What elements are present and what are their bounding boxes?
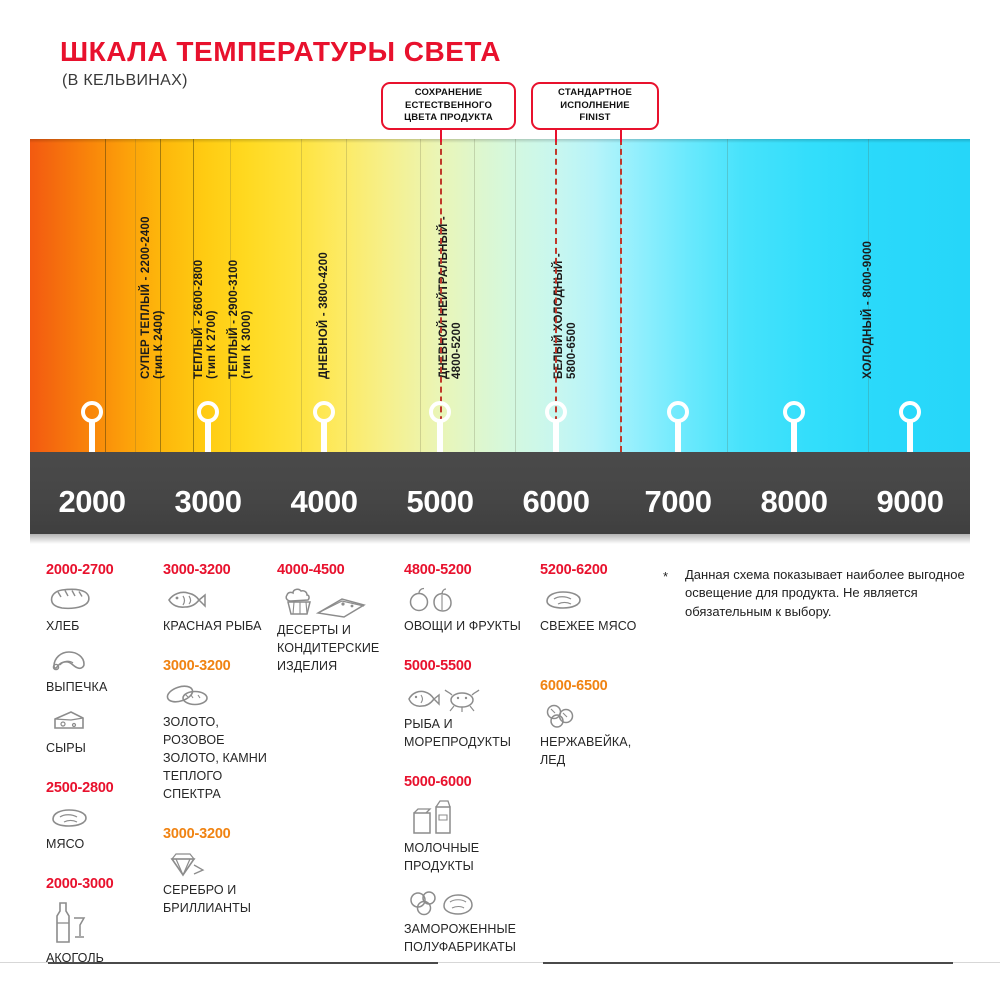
rings-icon [163,681,278,711]
product-name: НЕРЖАВЕЙКА, ЛЕД [540,735,631,767]
marker-ring-icon [81,401,103,423]
scale-tick-7000: 7000 [645,484,712,520]
spectrum-top-shadow [30,139,970,143]
marker-ring-icon [313,401,335,423]
product-column-2: 3000-3200 КРАСНАЯ РЫБА 3000-3200 ЗОЛОТО,… [163,562,278,928]
product-name: ДЕСЕРТЫ И КОНДИТЕРСКИЕ ИЗДЕЛИЯ [277,623,379,673]
diamond-icon [163,849,278,879]
bottom-divider-left [48,962,438,964]
product-item: СЫРЫ [46,707,151,757]
fish-crab-icon [404,681,532,713]
product-item: СВЕЖЕЕ МЯСО [540,585,650,635]
marker-ring-icon [667,401,689,423]
divider-line [135,139,136,452]
dashed-marker-line [620,139,622,452]
spectrum-gradient [30,139,970,452]
product-name: КРАСНАЯ РЫБА [163,619,262,633]
bottle-glass-icon [46,899,151,947]
marker-ring-icon [545,401,567,423]
range-label: 5000-6000 [404,774,532,790]
product-item: ВЫПЕЧКА [46,646,151,696]
product-name: СВЕЖЕЕ МЯСО [540,619,636,633]
frozen-food-icon [404,886,532,918]
scale-tick-4000: 4000 [291,484,358,520]
range-label: 3000-3200 [163,658,278,674]
product-name: СЫРЫ [46,741,86,755]
callout-finist-standard-text: СТАНДАРТНОЕ ИСПОЛНЕНИЕ FINIST [558,87,632,125]
marker-ring-icon [899,401,921,423]
spectrum-label-warm-3000: ТЕПЛЫЙ - 2900-3100 (тип К 3000) [228,260,254,379]
product-name: ХЛЕБ [46,619,79,633]
divider-line [105,139,106,452]
croissant-icon [46,646,151,676]
bread-icon [46,585,151,615]
footnote-star: * [663,568,668,586]
page-subtitle: (В КЕЛЬВИНАХ) [62,72,188,90]
marker-ring-icon [783,401,805,423]
range-label: 2000-2700 [46,562,151,578]
divider-line [515,139,516,452]
scale-bar-shadow [30,534,970,544]
scale-tick-8000: 8000 [761,484,828,520]
product-name: ОВОЩИ И ФРУКТЫ [404,619,521,633]
page-title: ШКАЛА ТЕМПЕРАТУРЫ СВЕТА [60,36,501,68]
divider-line [301,139,302,452]
product-item: ЗАМОРОЖЕННЫЕ ПОЛУФАБРИКАТЫ [404,886,532,956]
product-item: ДЕСЕРТЫ И КОНДИТЕРСКИЕ ИЗДЕЛИЯ [277,585,395,675]
milk-carton-icon [404,797,532,837]
product-item: РЫБА И МОРЕПРОДУКТЫ [404,681,532,751]
marker-ring-icon [197,401,219,423]
product-column-4: 4800-5200 ОВОЩИ И ФРУКТЫ 5000-5500 РЫБА … [404,562,532,967]
product-name: ВЫПЕЧКА [46,680,107,694]
spectrum-label-daylight: ДНЕВНОЙ - 3800-4200 [318,252,331,379]
fresh-meat-icon [540,585,650,615]
divider-line [346,139,347,452]
product-column-3: 4000-4500 ДЕСЕРТЫ И КОНДИТЕРСКИЕ ИЗДЕЛИЯ [277,562,395,686]
product-item: НЕРЖАВЕЙКА, ЛЕД [540,701,650,769]
product-item: СЕРЕБРО И БРИЛЛИАНТЫ [163,849,278,917]
divider-line [727,139,728,452]
product-item: ОВОЩИ И ФРУКТЫ [404,585,532,635]
range-label: 4800-5200 [404,562,532,578]
product-column-5: 5200-6200 СВЕЖЕЕ МЯСО 6000-6500 НЕРЖАВЕЙ… [540,562,650,780]
range-label: 5000-5500 [404,658,532,674]
footnote: * Данная схема показывает наиболее выгод… [663,566,983,621]
product-item: ЗОЛОТО, РОЗОВОЕ ЗОЛОТО, КАМНИ ТЕПЛОГО СП… [163,681,278,803]
kelvin-scale-bar [30,452,970,534]
range-label: 4000-4500 [277,562,395,578]
divider-line [474,139,475,452]
steak-icon [46,803,151,833]
callout-natural-color-text: СОХРАНЕНИЕ ЕСТЕСТВЕННОГО ЦВЕТА ПРОДУКТА [404,87,493,125]
range-label: 6000-6500 [540,678,650,694]
spectrum-label-cold: ХОЛОДНЫЙ - 8000-9000 [862,241,875,379]
callout-finist-stem-right [620,130,622,142]
product-name: МЯСО [46,837,84,851]
product-item: МЯСО [46,803,151,853]
range-label: 2500-2800 [46,780,151,796]
product-item: АКОГОЛЬ [46,899,151,967]
product-item: ХЛЕБ [46,585,151,635]
scale-tick-9000: 9000 [877,484,944,520]
product-name: МОЛОЧНЫЕ ПРОДУКТЫ [404,841,479,873]
product-item: КРАСНАЯ РЫБА [163,585,278,635]
fruit-icon [404,585,532,615]
scale-tick-5000: 5000 [407,484,474,520]
cupcake-cake-icon [277,585,395,619]
fish-icon [163,585,278,615]
product-name: ЗОЛОТО, РОЗОВОЕ ЗОЛОТО, КАМНИ ТЕПЛОГО СП… [163,715,267,801]
product-column-1: 2000-2700 ХЛЕБ ВЫПЕЧКА СЫРЫ 2500-2800 МЯ… [46,562,151,978]
marker-ring-icon [429,401,451,423]
callout-finist-stem-left [555,130,557,142]
scale-tick-6000: 6000 [523,484,590,520]
divider-line [420,139,421,452]
product-name: ЗАМОРОЖЕННЫЕ ПОЛУФАБРИКАТЫ [404,922,516,954]
footnote-text: Данная схема показывает наиболее выгодно… [685,566,983,621]
callout-natural-color-stem [440,130,442,142]
callout-natural-color: СОХРАНЕНИЕ ЕСТЕСТВЕННОГО ЦВЕТА ПРОДУКТА [381,82,516,130]
scale-tick-3000: 3000 [175,484,242,520]
range-label: 3000-3200 [163,562,278,578]
range-label: 2000-3000 [46,876,151,892]
product-item: МОЛОЧНЫЕ ПРОДУКТЫ [404,797,532,875]
product-name: РЫБА И МОРЕПРОДУКТЫ [404,717,511,749]
cheese-icon [46,707,151,737]
spectrum-label-warm-2700: ТЕПЛЫЙ - 2600-2800 (тип К 2700) [193,260,219,379]
spectrum-label-super-warm: СУПЕР ТЕПЛЫЙ - 2200-2400 (тип К 2400) [140,216,166,379]
product-name: СЕРЕБРО И БРИЛЛИАНТЫ [163,883,251,915]
ice-cubes-icon [540,701,650,731]
range-label: 3000-3200 [163,826,278,842]
bottom-divider-right [543,962,953,964]
scale-tick-2000: 2000 [59,484,126,520]
range-label: 5200-6200 [540,562,650,578]
callout-finist-standard: СТАНДАРТНОЕ ИСПОЛНЕНИЕ FINIST [531,82,659,130]
spectrum-gradient-band: СУПЕР ТЕПЛЫЙ - 2200-2400 (тип К 2400) ТЕ… [30,139,970,452]
